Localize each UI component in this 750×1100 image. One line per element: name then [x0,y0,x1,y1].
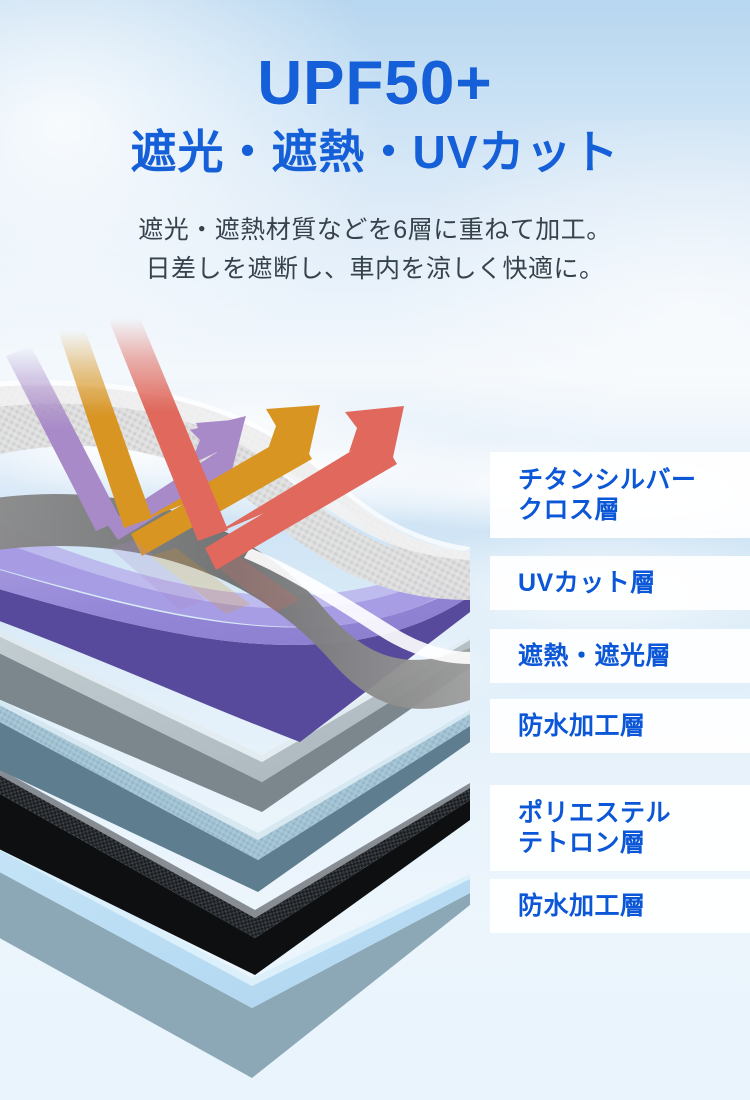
layer-label-polyester-tetron: ポリエステル テトロン層 [490,785,750,871]
layer-label-heat-light-shield: 遮熱・遮光層 [490,629,750,683]
layer-label-uv-cut: UVカット層 [490,556,750,610]
layer-label-waterproof-upper: 防水加工層 [490,699,750,753]
layer-label-waterproof-lower: 防水加工層 [490,879,750,933]
layer-label-titanium-silver-cloth: チタンシルバー クロス層 [490,452,750,538]
layer-label-list: チタンシルバー クロス層 UVカット層 遮熱・遮光層 防水加工層 ポリエステル … [0,0,750,1100]
infographic-stage: UPF50+ 遮光・遮熱・UVカット 遮光・遮熱材質などを6層に重ねて加工。 日… [0,0,750,1100]
